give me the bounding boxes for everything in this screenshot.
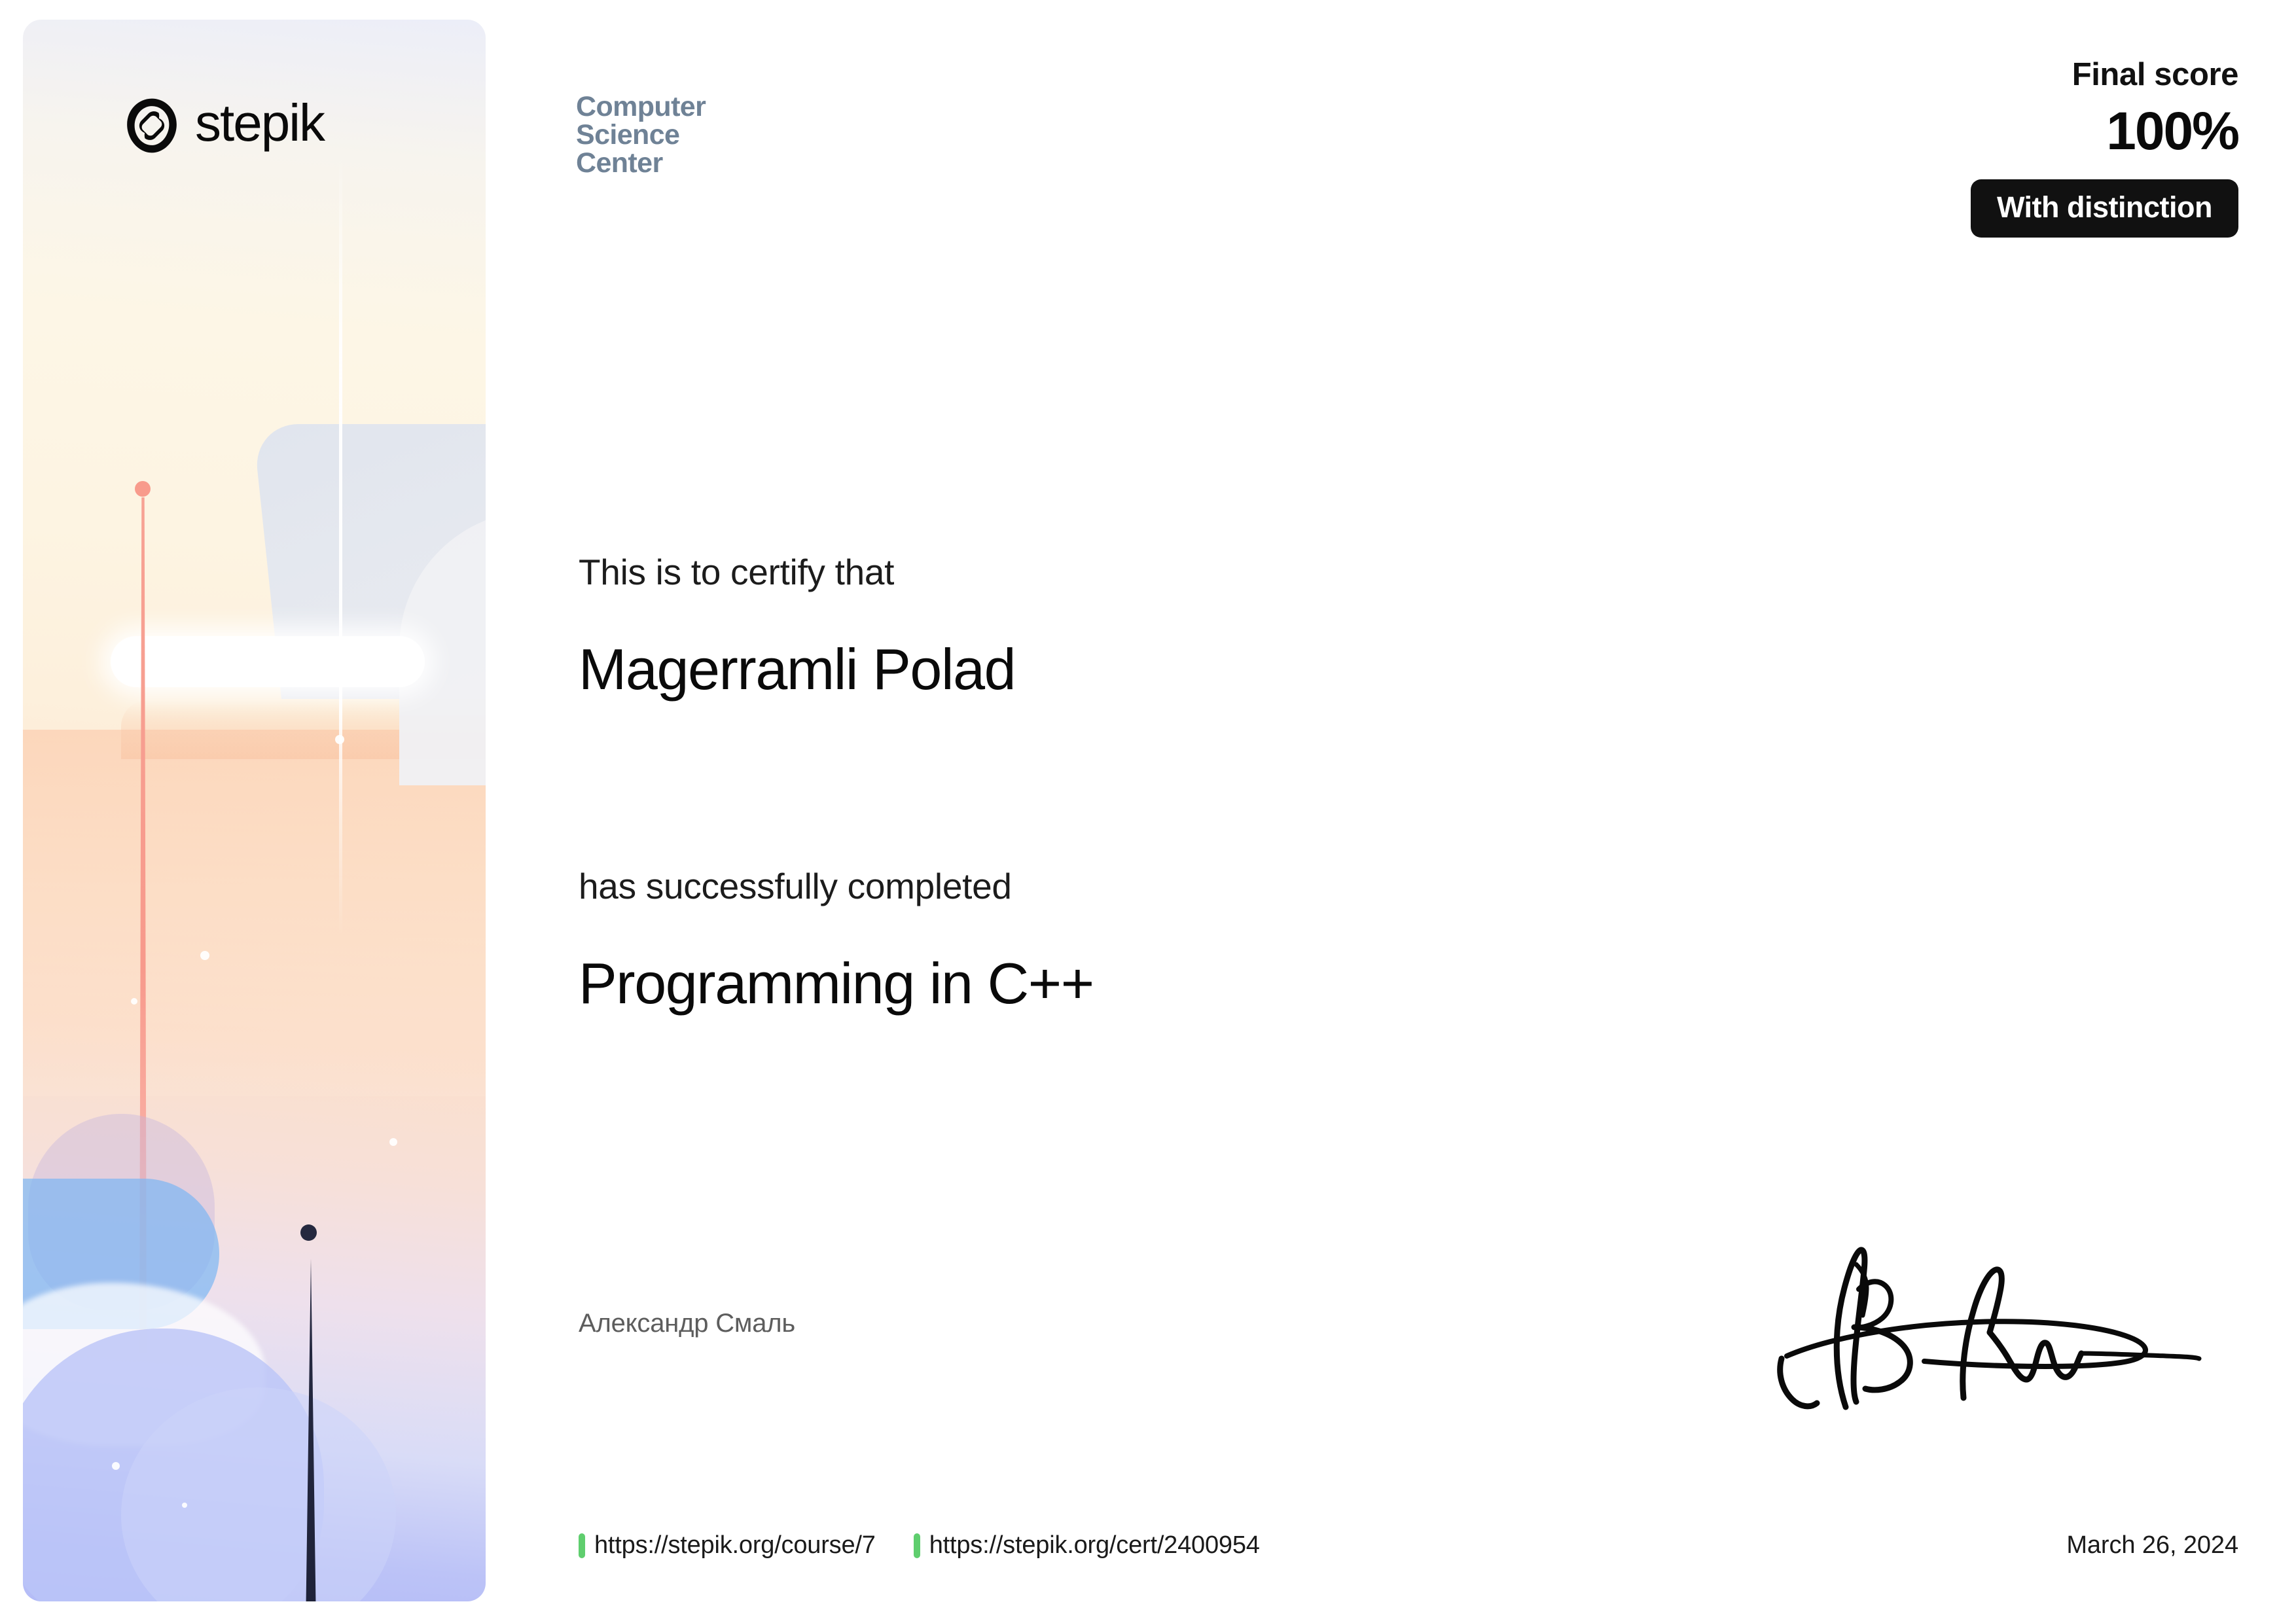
csc-logo-line-1: Computer xyxy=(576,93,706,121)
navy-dot-icon xyxy=(300,1224,317,1241)
final-score-label: Final score xyxy=(1833,58,2238,93)
sparkle-dot-icon xyxy=(182,1503,187,1508)
sparkle-dot-icon xyxy=(131,998,137,1005)
instructor-name: Александр Смаль xyxy=(579,1309,795,1338)
final-score-value: 100% xyxy=(1833,101,2238,162)
certificate-page: stepik Computer Science Center Final sco… xyxy=(0,0,2296,1623)
green-marker-icon xyxy=(914,1533,920,1558)
sparkle-dot-icon xyxy=(112,1462,120,1470)
computer-science-center-logo: Computer Science Center xyxy=(576,93,706,177)
svg-text:stepik: stepik xyxy=(195,98,326,152)
course-link[interactable]: https://stepik.org/course/7 xyxy=(579,1531,876,1560)
certificate-link[interactable]: https://stepik.org/cert/2400954 xyxy=(914,1531,1260,1560)
green-marker-icon xyxy=(579,1533,585,1558)
csc-logo-line-2: Science xyxy=(576,121,706,149)
course-title: Programming in C++ xyxy=(579,950,1094,1017)
coral-dot-icon xyxy=(135,481,151,497)
white-pill-bar xyxy=(111,636,425,687)
stepik-s-mark-icon xyxy=(123,97,181,154)
certify-lead-text: This is to certify that xyxy=(579,551,894,593)
issue-date: March 26, 2024 xyxy=(2066,1531,2238,1560)
course-link-label: https://stepik.org/course/7 xyxy=(594,1531,876,1560)
csc-logo-line-3: Center xyxy=(576,149,706,177)
stepik-wordmark-icon: stepik xyxy=(195,98,359,154)
distinction-badge: With distinction xyxy=(1971,179,2238,238)
decorative-gradient-panel xyxy=(23,20,486,1601)
certificate-link-label: https://stepik.org/cert/2400954 xyxy=(929,1531,1260,1560)
footer-links: https://stepik.org/course/7 https://step… xyxy=(579,1531,1260,1560)
sparkle-dot-icon xyxy=(389,1138,397,1146)
handwritten-signature xyxy=(1767,1211,2225,1427)
white-streak-dot-icon xyxy=(335,735,344,744)
sparkle-dot-icon xyxy=(200,951,209,960)
white-light-streak xyxy=(339,151,342,936)
stepik-logo: stepik xyxy=(123,97,359,154)
final-score-block: Final score 100% With distinction xyxy=(1833,58,2238,238)
completed-lead-text: has successfully completed xyxy=(579,865,1012,907)
recipient-name: Magerramli Polad xyxy=(579,636,1015,703)
